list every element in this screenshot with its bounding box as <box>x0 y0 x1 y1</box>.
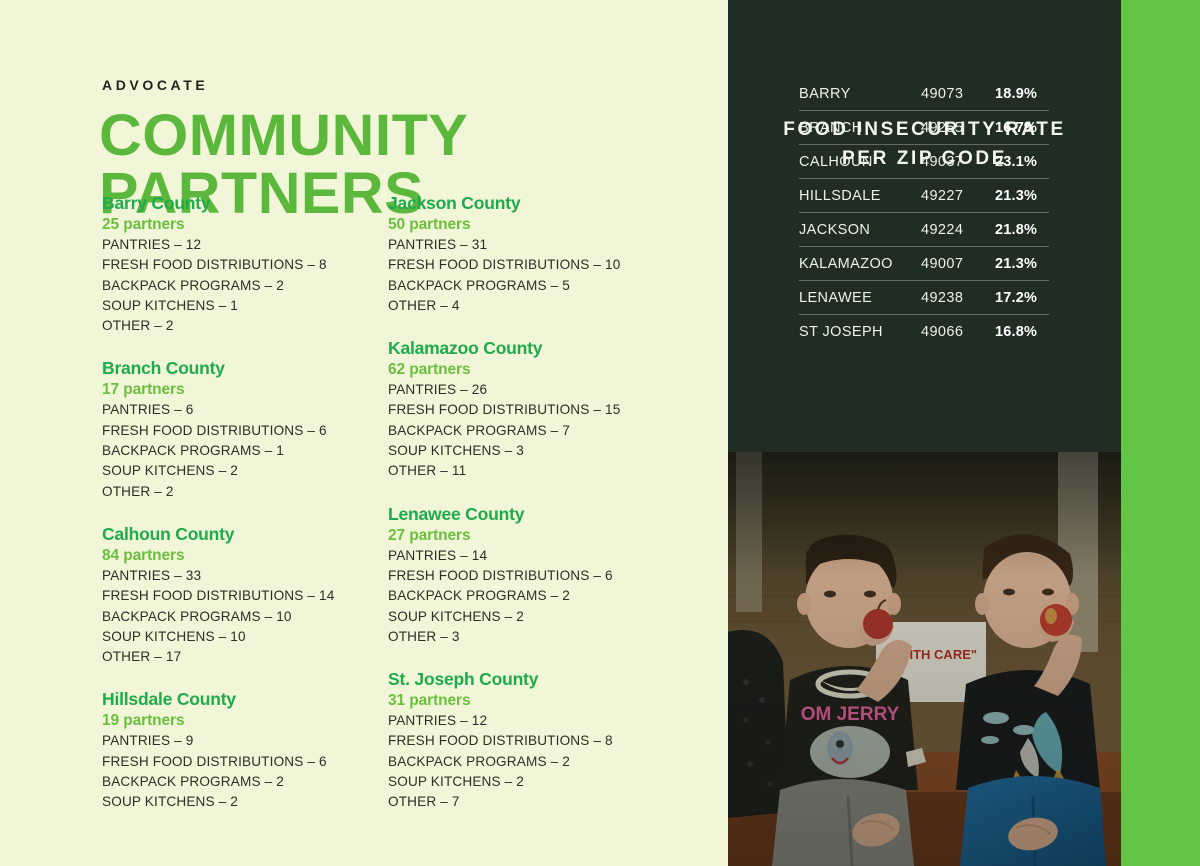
county-partner-count: 50 partners <box>388 215 674 234</box>
county-column-1: Barry County25 partnersPANTRIES – 12FRES… <box>102 193 388 835</box>
stat-rate-value: 21.3% <box>995 188 1049 204</box>
right-green-rail: S COMMUNITY|ADVOCATE 17 <box>1121 0 1200 866</box>
county-breakdown-line: FRESH FOOD DISTRIBUTIONS – 14 <box>102 586 388 606</box>
stat-zip-code: 49238 <box>921 290 995 306</box>
county-block: Jackson County50 partnersPANTRIES – 31FR… <box>388 193 674 316</box>
county-breakdown-line: BACKPACK PROGRAMS – 2 <box>102 772 388 792</box>
county-partner-count: 62 partners <box>388 360 674 379</box>
county-partner-count: 25 partners <box>102 215 388 234</box>
stat-county-name: HILLSDALE <box>799 188 921 204</box>
stat-zip-code: 49066 <box>921 324 995 340</box>
county-name: Lenawee County <box>388 504 674 524</box>
county-partner-count: 31 partners <box>388 691 674 710</box>
county-breakdown-line: FRESH FOOD DISTRIBUTIONS – 10 <box>388 255 674 275</box>
county-name: Kalamazoo County <box>388 338 674 358</box>
county-breakdown-line: OTHER – 2 <box>102 316 388 336</box>
stat-county-name: BARRY <box>799 86 921 102</box>
table-row: KALAMAZOO4900721.3% <box>799 247 1049 281</box>
county-name: Hillsdale County <box>102 689 388 709</box>
food-insecurity-table: BARRY4907318.9%BRANCH4925516.7%CALHOUN49… <box>799 77 1049 348</box>
county-breakdown-line: BACKPACK PROGRAMS – 10 <box>102 607 388 627</box>
county-partner-count: 27 partners <box>388 526 674 545</box>
stat-county-name: JACKSON <box>799 222 921 238</box>
county-breakdown-line: OTHER – 3 <box>388 627 674 647</box>
county-breakdown-line: OTHER – 11 <box>388 461 674 481</box>
county-breakdown-line: SOUP KITCHENS – 2 <box>388 772 674 792</box>
stat-rate-value: 16.7% <box>995 120 1049 136</box>
county-breakdown-line: OTHER – 2 <box>102 482 388 502</box>
county-breakdown-line: OTHER – 17 <box>102 647 388 667</box>
county-partner-count: 19 partners <box>102 711 388 730</box>
county-breakdown-line: FRESH FOOD DISTRIBUTIONS – 15 <box>388 400 674 420</box>
county-breakdown-line: PANTRIES – 12 <box>102 235 388 255</box>
stat-zip-code: 49037 <box>921 154 995 170</box>
stat-county-name: ST JOSEPH <box>799 324 921 340</box>
county-breakdown-line: FRESH FOOD DISTRIBUTIONS – 6 <box>102 752 388 772</box>
stat-rate-value: 16.8% <box>995 324 1049 340</box>
county-block: Lenawee County27 partnersPANTRIES – 14FR… <box>388 504 674 647</box>
page-root: ADVOCATE COMMUNITY PARTNERS Barry County… <box>0 0 1200 866</box>
county-breakdown-line: SOUP KITCHENS – 3 <box>388 441 674 461</box>
county-breakdown-line: PANTRIES – 9 <box>102 731 388 751</box>
county-breakdown-line: SOUP KITCHENS – 10 <box>102 627 388 647</box>
table-row: BARRY4907318.9% <box>799 77 1049 111</box>
table-row: BRANCH4925516.7% <box>799 111 1049 145</box>
county-breakdown-line: PANTRIES – 26 <box>388 380 674 400</box>
county-partner-count: 17 partners <box>102 380 388 399</box>
county-breakdown-line: PANTRIES – 6 <box>102 400 388 420</box>
county-breakdown-line: OTHER – 7 <box>388 792 674 812</box>
table-row: HILLSDALE4922721.3% <box>799 179 1049 213</box>
stat-county-name: BRANCH <box>799 120 921 136</box>
county-column-2: Jackson County50 partnersPANTRIES – 31FR… <box>388 193 674 835</box>
county-breakdown-line: BACKPACK PROGRAMS – 1 <box>102 441 388 461</box>
table-row: JACKSON4922421.8% <box>799 213 1049 247</box>
county-breakdown-line: BACKPACK PROGRAMS – 2 <box>388 586 674 606</box>
county-block: Hillsdale County19 partnersPANTRIES – 9F… <box>102 689 388 812</box>
table-row: ST JOSEPH4906616.8% <box>799 315 1049 348</box>
photo-two-boys-eating-apples: E WITH CARE" <box>728 452 1121 866</box>
stat-rate-value: 17.2% <box>995 290 1049 306</box>
stat-zip-code: 49255 <box>921 120 995 136</box>
stat-zip-code: 49224 <box>921 222 995 238</box>
left-content-pane: ADVOCATE COMMUNITY PARTNERS Barry County… <box>0 0 728 866</box>
county-partner-count: 84 partners <box>102 546 388 565</box>
county-breakdown-line: FRESH FOOD DISTRIBUTIONS – 8 <box>388 731 674 751</box>
county-breakdown-line: FRESH FOOD DISTRIBUTIONS – 8 <box>102 255 388 275</box>
county-name: Branch County <box>102 358 388 378</box>
table-row: LENAWEE4923817.2% <box>799 281 1049 315</box>
stat-zip-code: 49073 <box>921 86 995 102</box>
county-breakdown-line: FRESH FOOD DISTRIBUTIONS – 6 <box>388 566 674 586</box>
county-block: St. Joseph County31 partnersPANTRIES – 1… <box>388 669 674 812</box>
county-breakdown-line: BACKPACK PROGRAMS – 5 <box>388 276 674 296</box>
county-breakdown-line: PANTRIES – 31 <box>388 235 674 255</box>
county-breakdown-line: SOUP KITCHENS – 2 <box>388 607 674 627</box>
stat-county-name: LENAWEE <box>799 290 921 306</box>
county-breakdown-line: PANTRIES – 14 <box>388 546 674 566</box>
stat-zip-code: 49227 <box>921 188 995 204</box>
county-name: Barry County <box>102 193 388 213</box>
county-breakdown-line: OTHER – 4 <box>388 296 674 316</box>
table-row: CALHOUN4903723.1% <box>799 145 1049 179</box>
stat-rate-value: 23.1% <box>995 154 1049 170</box>
county-block: Kalamazoo County62 partnersPANTRIES – 26… <box>388 338 674 481</box>
county-breakdown-line: SOUP KITCHENS – 2 <box>102 461 388 481</box>
stat-rate-value: 21.3% <box>995 256 1049 272</box>
county-breakdown-line: SOUP KITCHENS – 1 <box>102 296 388 316</box>
stat-county-name: CALHOUN <box>799 154 921 170</box>
county-name: St. Joseph County <box>388 669 674 689</box>
stat-zip-code: 49007 <box>921 256 995 272</box>
county-breakdown-line: PANTRIES – 33 <box>102 566 388 586</box>
section-eyebrow: ADVOCATE <box>102 77 208 93</box>
county-breakdown-line: PANTRIES – 12 <box>388 711 674 731</box>
stat-county-name: KALAMAZOO <box>799 256 921 272</box>
stat-rate-value: 21.8% <box>995 222 1049 238</box>
county-name: Jackson County <box>388 193 674 213</box>
county-breakdown-line: BACKPACK PROGRAMS – 2 <box>102 276 388 296</box>
county-columns: Barry County25 partnersPANTRIES – 12FRES… <box>102 193 702 835</box>
county-breakdown-line: BACKPACK PROGRAMS – 2 <box>388 752 674 772</box>
county-breakdown-line: BACKPACK PROGRAMS – 7 <box>388 421 674 441</box>
county-block: Branch County17 partnersPANTRIES – 6FRES… <box>102 358 388 501</box>
county-block: Calhoun County84 partnersPANTRIES – 33FR… <box>102 524 388 667</box>
county-breakdown-line: FRESH FOOD DISTRIBUTIONS – 6 <box>102 421 388 441</box>
county-name: Calhoun County <box>102 524 388 544</box>
county-block: Barry County25 partnersPANTRIES – 12FRES… <box>102 193 388 336</box>
stat-rate-value: 18.9% <box>995 86 1049 102</box>
county-breakdown-line: SOUP KITCHENS – 2 <box>102 792 388 812</box>
